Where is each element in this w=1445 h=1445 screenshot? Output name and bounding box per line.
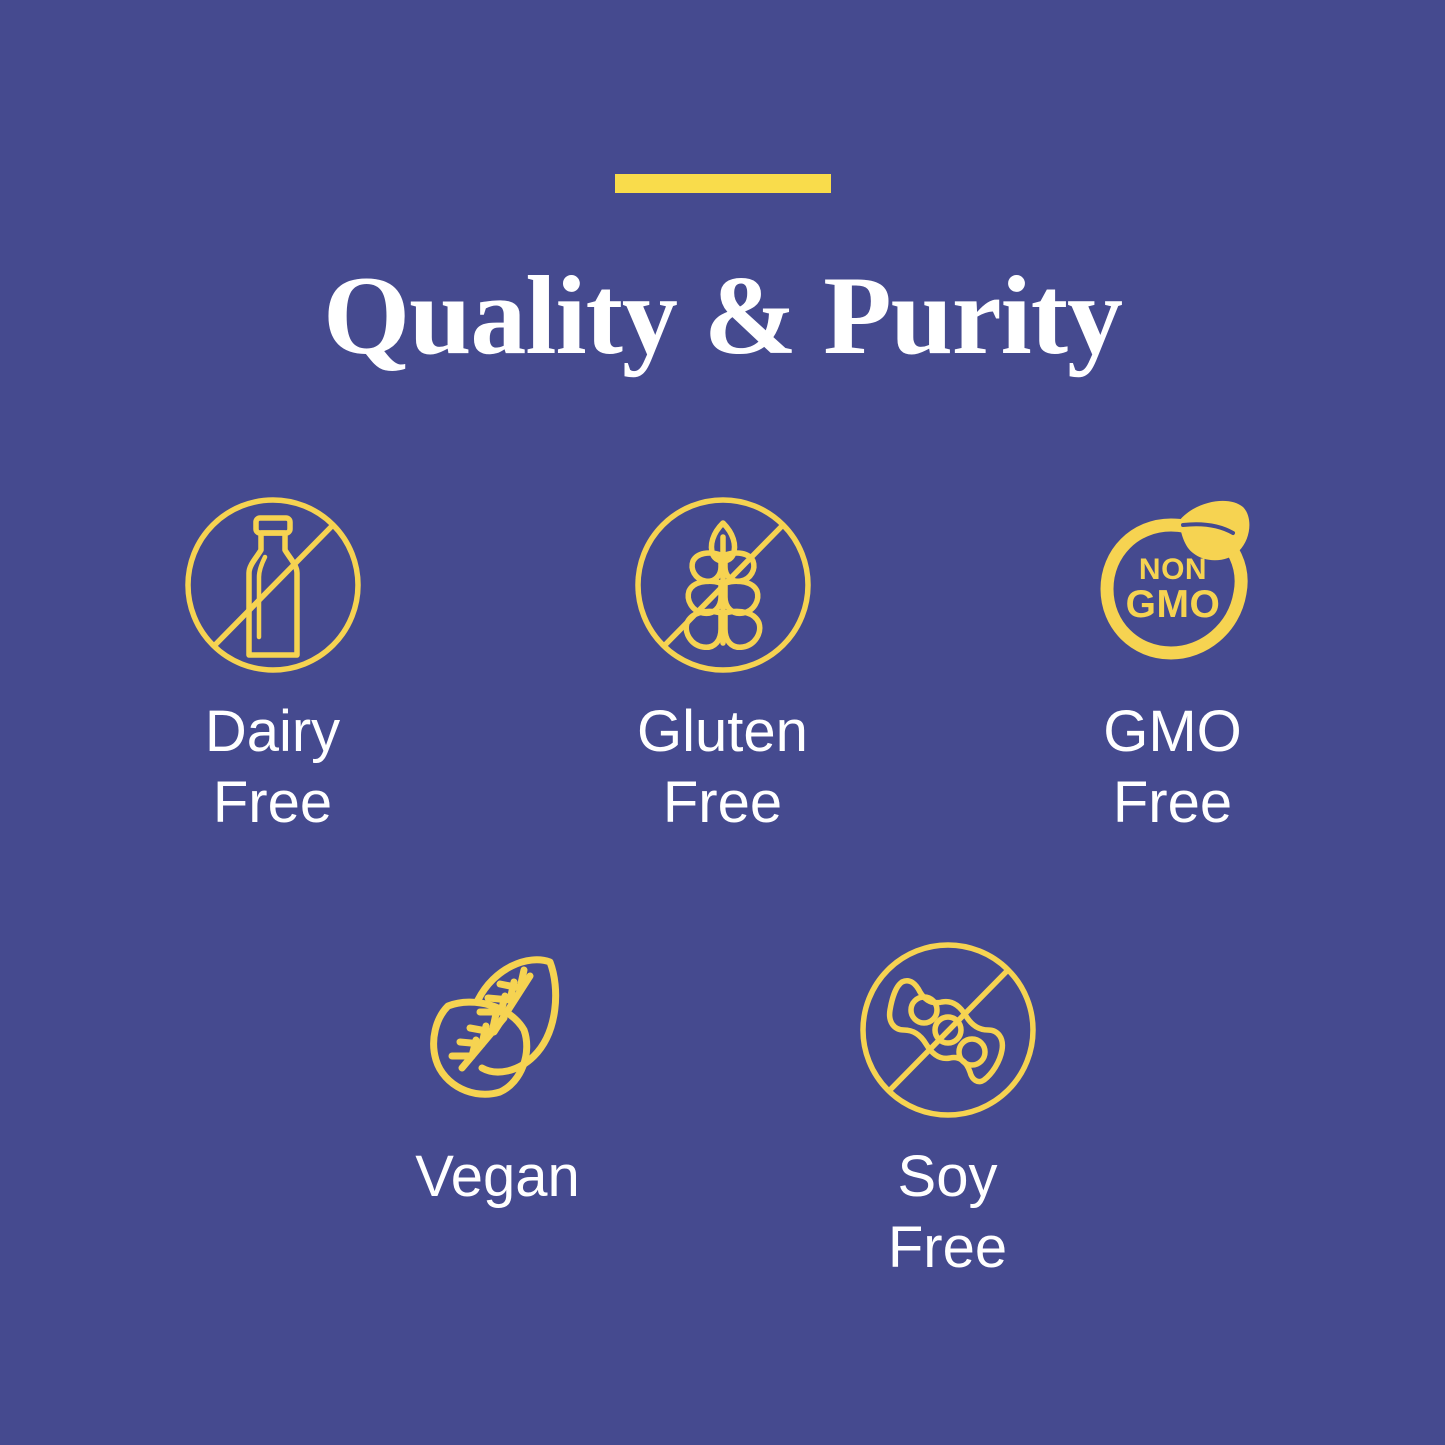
badge-label-gmo-free: GMO Free [1103,697,1242,839]
no-gluten-wheat-icon [633,495,813,675]
badge-label-gluten-free: Gluten Free [637,697,808,839]
page-title: Quality & Purity [0,255,1445,378]
badge-dairy-free: Dairy Free [163,495,383,839]
badge-label-dairy-free: Dairy Free [205,697,340,839]
badge-label-soy-free: Soy Free [888,1142,1007,1284]
badge-label-vegan: Vegan [415,1142,580,1213]
no-dairy-bottle-icon [183,495,363,675]
badge-row-1: Dairy Free [0,495,1445,839]
non-gmo-top-text: NON [1138,553,1206,586]
badge-vegan: Vegan [388,940,608,1284]
badge-gmo-free: NON GMO GMO Free [1063,495,1283,839]
title-accent-bar [615,174,831,193]
badge-gluten-free: Gluten Free [613,495,833,839]
no-soy-pod-icon [858,940,1038,1120]
quality-purity-panel: Quality & Purity Dairy Free [0,0,1445,1445]
badge-row-2: Vegan Soy Free [0,940,1445,1284]
badge-soy-free: Soy Free [838,940,1058,1284]
vegan-leaves-icon [408,940,588,1120]
non-gmo-bottom-text: GMO [1125,583,1220,626]
non-gmo-leaf-badge-icon: NON GMO [1083,495,1263,675]
